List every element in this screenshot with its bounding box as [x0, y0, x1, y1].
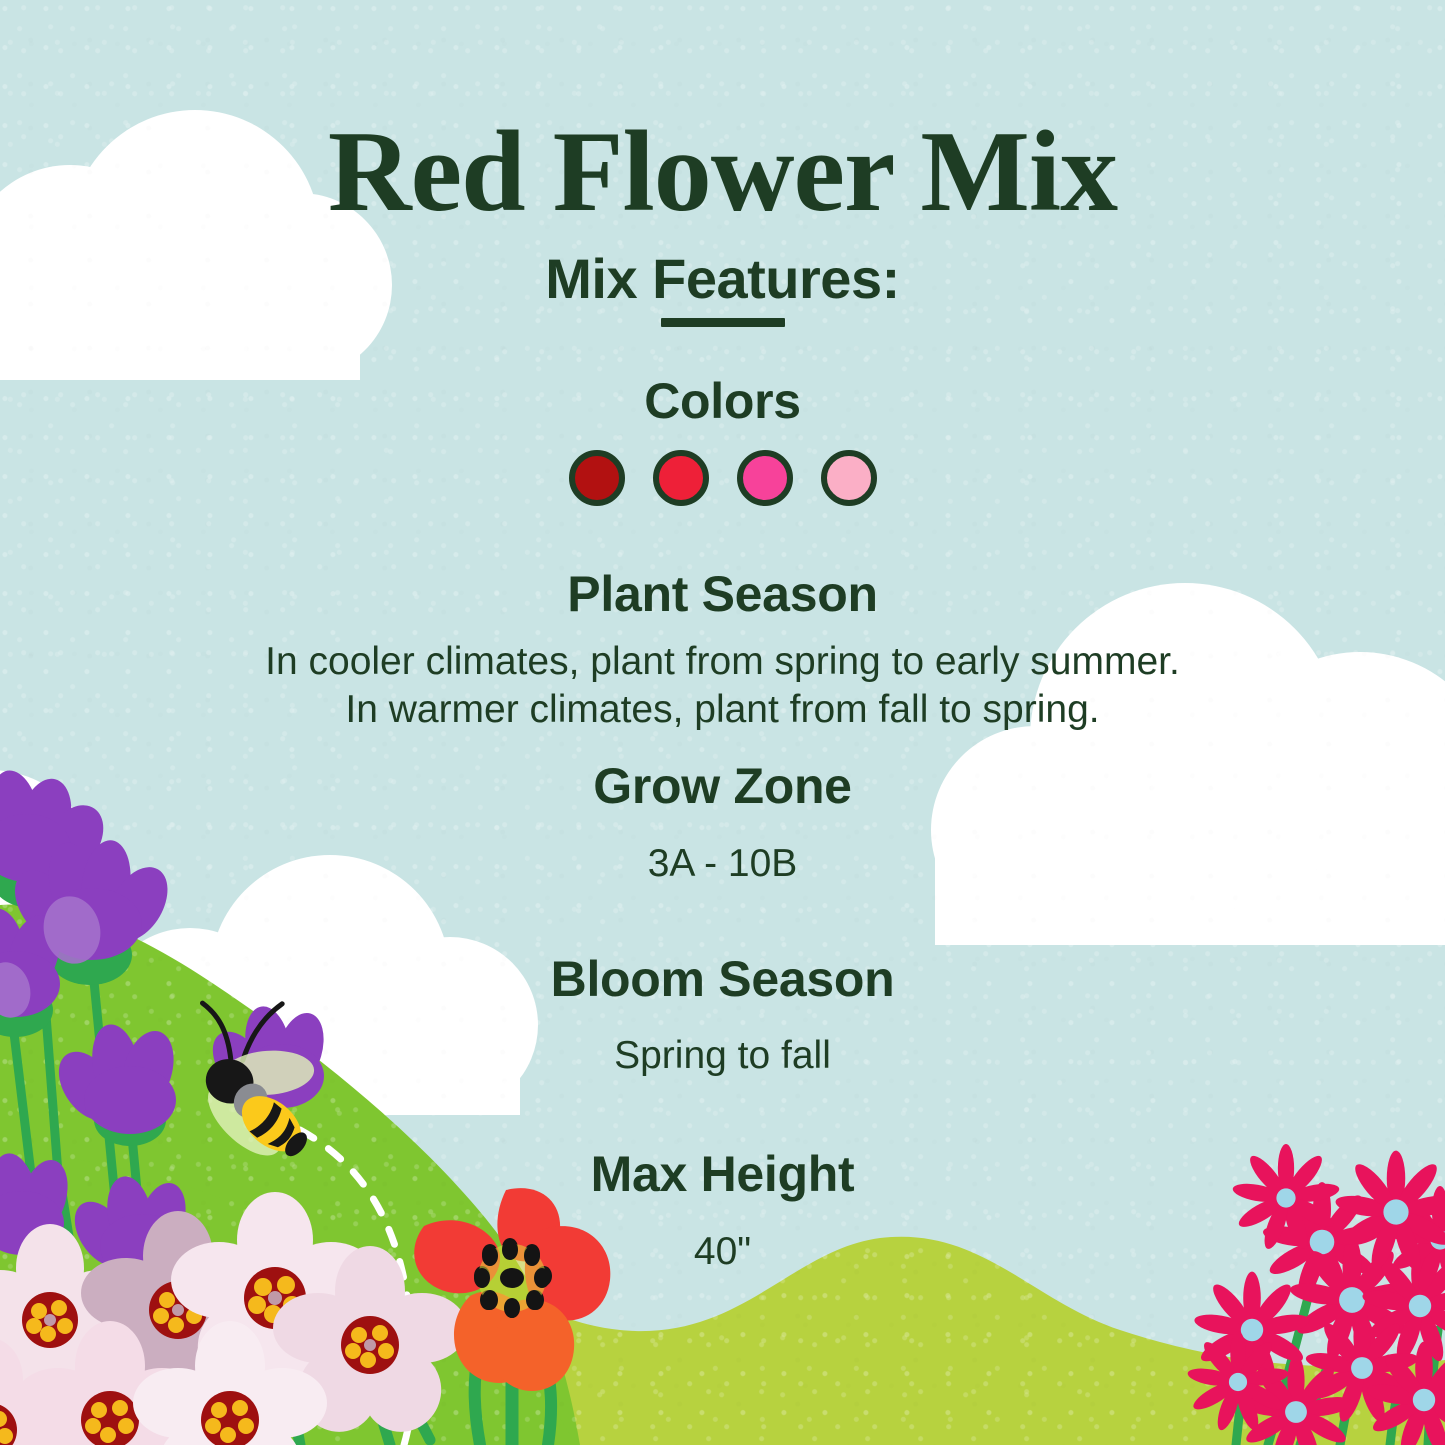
color-swatch-dark-red [569, 450, 625, 506]
max-height-value: 40" [0, 1228, 1445, 1276]
bloom-season-value: Spring to fall [0, 1032, 1445, 1080]
color-swatch-bright-red [653, 450, 709, 506]
page-title: Red Flower Mix [0, 112, 1445, 234]
plant-season-line-1: In cooler climates, plant from spring to… [0, 638, 1445, 686]
plant-season-line-2: In warmer climates, plant from fall to s… [0, 686, 1445, 734]
max-height-title: Max Height [0, 1145, 1445, 1203]
plant-season-title: Plant Season [0, 565, 1445, 623]
info-content: Red Flower Mix Mix Features: Colors Plan… [0, 0, 1445, 1445]
bloom-season-title: Bloom Season [0, 950, 1445, 1008]
grow-zone-value: 3A - 10B [0, 840, 1445, 888]
color-swatch-list [0, 450, 1445, 506]
grow-zone-title: Grow Zone [0, 757, 1445, 815]
color-swatch-hot-pink [737, 450, 793, 506]
mix-features-heading: Mix Features: [0, 246, 1445, 311]
color-swatch-light-pink [821, 450, 877, 506]
heading-divider [661, 318, 785, 327]
colors-section-title: Colors [0, 372, 1445, 430]
seed-packet-infographic: Red Flower Mix Mix Features: Colors Plan… [0, 0, 1445, 1445]
plant-season-body: In cooler climates, plant from spring to… [0, 638, 1445, 733]
